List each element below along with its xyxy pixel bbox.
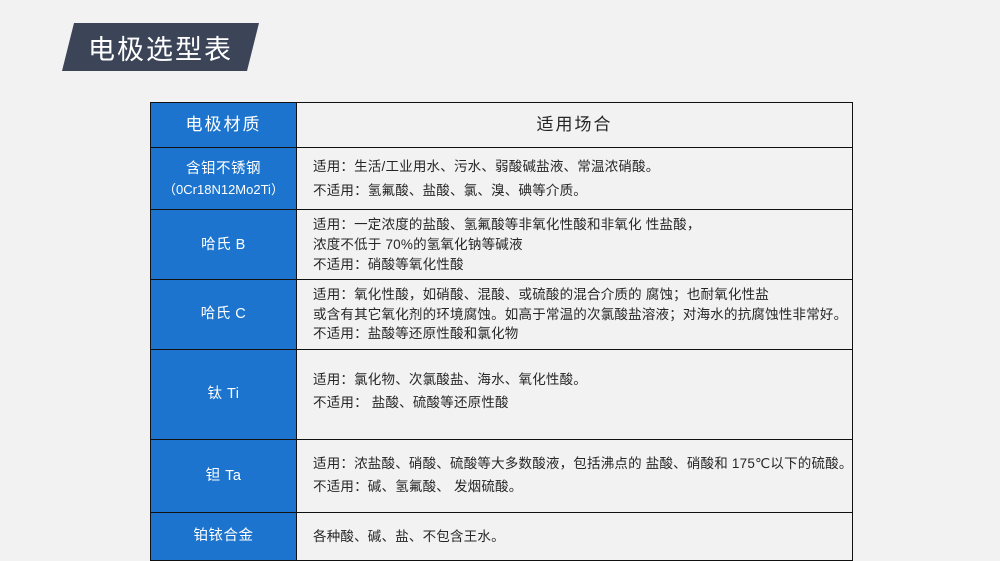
material-grade: （0Cr18N12Mo2Ti） [155, 180, 292, 200]
cell-usage-tantalum: 适用：浓盐酸、硝酸、硫酸等大多数酸液，包括沸点的 盐酸、硝酸和 175℃以下的硫… [297, 439, 853, 512]
cell-usage-hastelloy-b: 适用：一定浓度的盐酸、氢氟酸等非氧化性酸和非氧化 性盐酸， 浓度不低于 70%的… [297, 210, 853, 280]
table-row: 哈氏 C 适用：氧化性酸，如硝酸、混酸、或硫酸的混合介质的 腐蚀；也耐氧化性盐 … [151, 280, 853, 350]
page-title: 电极选型表 [88, 28, 233, 67]
usage-line: 不适用：氢氟酸、盐酸、氯、溴、碘等介质。 [313, 181, 852, 201]
material-name: 含钼不锈钢 [186, 161, 261, 177]
cell-material-platinum-iridium: 铂铱合金 [151, 513, 297, 560]
header-cell-usage: 适用场合 [297, 103, 853, 148]
cell-usage-hastelloy-c: 适用：氧化性酸，如硝酸、混酸、或硫酸的混合介质的 腐蚀；也耐氧化性盐 或含有其它… [297, 280, 853, 350]
usage-line: 浓度不低于 70%的氢氧化钠等碱液 [313, 235, 852, 255]
table-row: 哈氏 B 适用：一定浓度的盐酸、氢氟酸等非氧化性酸和非氧化 性盐酸， 浓度不低于… [151, 210, 853, 280]
table-row: 含钼不锈钢 （0Cr18N12Mo2Ti） 适用：生活/工业用水、污水、弱酸碱盐… [151, 148, 853, 210]
table-header-row: 电极材质 适用场合 [151, 103, 853, 148]
usage-line: 不适用：盐酸等还原性酸和氯化物 [313, 324, 852, 344]
cell-material-hastelloy-c: 哈氏 C [151, 280, 297, 350]
header-cell-material: 电极材质 [151, 103, 297, 148]
cell-usage-platinum-iridium: 各种酸、碱、盐、不包含王水。 [297, 513, 853, 560]
cell-usage-stainless-steel: 适用：生活/工业用水、污水、弱酸碱盐液、常温浓硝酸。 不适用：氢氟酸、盐酸、氯、… [297, 148, 853, 210]
cell-material-titanium: 钛 Ti [151, 349, 297, 439]
table-row: 钽 Ta 适用：浓盐酸、硝酸、硫酸等大多数酸液，包括沸点的 盐酸、硝酸和 175… [151, 439, 853, 512]
page-root: 电极选型表 电极材质 适用场合 含钼不锈钢 （0Cr18N12Mo2Ti） 适用… [0, 0, 1000, 542]
table-body: 电极材质 适用场合 含钼不锈钢 （0Cr18N12Mo2Ti） 适用：生活/工业… [151, 103, 853, 561]
table-row: 钛 Ti 适用：氯化物、次氯酸盐、海水、氧化性酸。 不适用： 盐酸、硫酸等还原性… [151, 349, 853, 439]
usage-line: 适用：氧化性酸，如硝酸、混酸、或硫酸的混合介质的 腐蚀；也耐氧化性盐 [313, 285, 852, 305]
usage-line: 适用：一定浓度的盐酸、氢氟酸等非氧化性酸和非氧化 性盐酸， [313, 215, 852, 235]
cell-material-hastelloy-b: 哈氏 B [151, 210, 297, 280]
material-name: 钛 Ti [207, 386, 239, 402]
usage-line: 适用：浓盐酸、硝酸、硫酸等大多数酸液，包括沸点的 盐酸、硝酸和 175℃以下的硫… [313, 454, 852, 474]
material-name: 钽 Ta [206, 468, 242, 484]
usage-line: 不适用： 盐酸、硫酸等还原性酸 [313, 393, 852, 413]
table-row: 铂铱合金 各种酸、碱、盐、不包含王水。 [151, 513, 853, 560]
usage-line: 适用：生活/工业用水、污水、弱酸碱盐液、常温浓硝酸。 [313, 157, 852, 177]
usage-line: 各种酸、碱、盐、不包含王水。 [313, 527, 852, 547]
cell-material-stainless-steel: 含钼不锈钢 （0Cr18N12Mo2Ti） [151, 148, 297, 210]
cell-material-tantalum: 钽 Ta [151, 439, 297, 512]
usage-line: 不适用：碱、氢氟酸、 发烟硫酸。 [313, 477, 852, 497]
usage-line: 或含有其它氧化剂的环境腐蚀。如高于常温的次氯酸盐溶液；对海水的抗腐蚀性非常好。 [313, 305, 852, 325]
usage-line: 不适用：硝酸等氧化性酸 [313, 255, 852, 275]
material-name: 哈氏 C [201, 306, 247, 322]
electrode-selection-table: 电极材质 适用场合 含钼不锈钢 （0Cr18N12Mo2Ti） 适用：生活/工业… [150, 102, 853, 561]
material-name: 哈氏 B [201, 237, 246, 253]
cell-usage-titanium: 适用：氯化物、次氯酸盐、海水、氧化性酸。 不适用： 盐酸、硫酸等还原性酸 [297, 349, 853, 439]
usage-line: 适用：氯化物、次氯酸盐、海水、氧化性酸。 [313, 370, 852, 390]
page-title-banner: 电极选型表 [62, 23, 259, 71]
